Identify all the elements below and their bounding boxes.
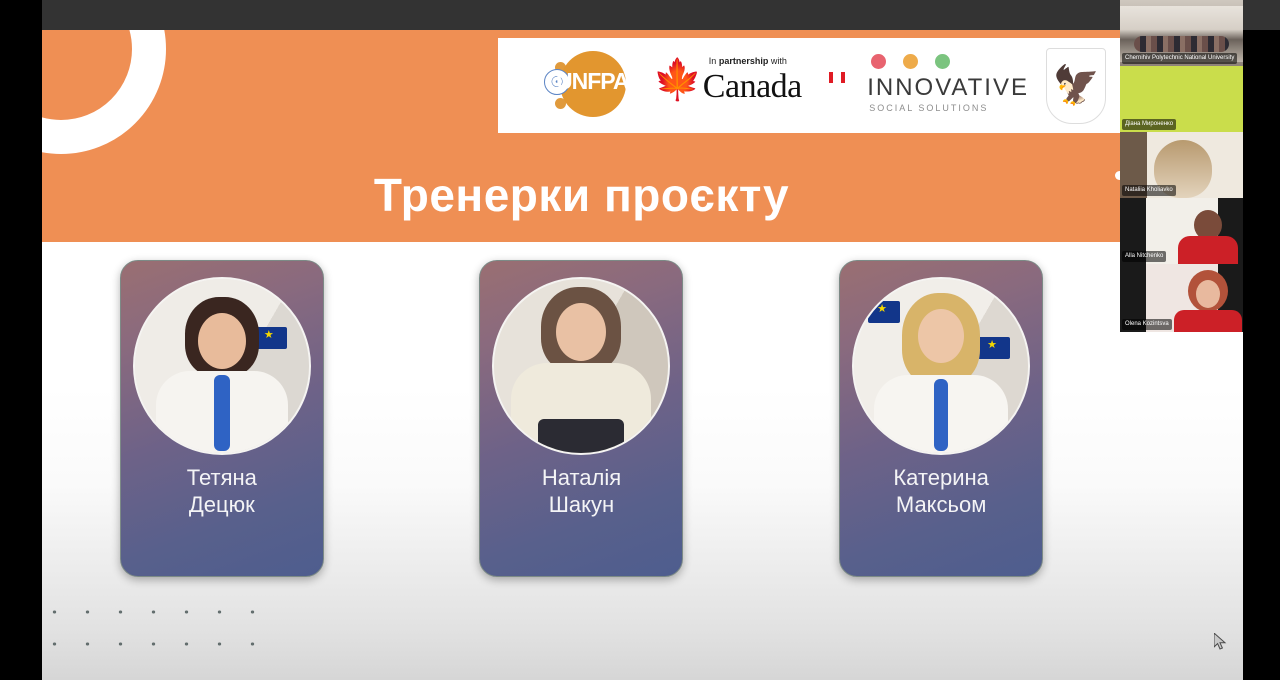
canada-partnership-line: In partnership with (709, 56, 787, 66)
screen-share-stage: ☉ UNFPA 🍁 In partnership with Canada INN… (0, 0, 1280, 680)
innovative-subtitle: SOCIAL SOLUTIONS (869, 103, 988, 113)
decorative-ring-shape (42, 30, 166, 154)
presentation-slide: ☉ UNFPA 🍁 In partnership with Canada INN… (42, 30, 1243, 680)
participant-tile[interactable]: Alla Nitchenko (1120, 198, 1243, 264)
participant-torso (1174, 310, 1242, 332)
participant-tile[interactable]: Діана Мироненко (1120, 66, 1243, 132)
trainer-last-name: Максьом (896, 492, 987, 517)
participant-video-strip[interactable]: Chernihiv Polytechnic National Universit… (1120, 0, 1243, 332)
trainer-last-name: Шакун (549, 492, 614, 517)
participant-name: Olena Kozintsva (1122, 319, 1172, 330)
presentation-top-chrome (42, 0, 1280, 30)
canada-wordmark: Canada (703, 68, 802, 106)
trainer-card[interactable]: Катерина Максьом (839, 260, 1043, 577)
partnership-prefix: In (709, 56, 717, 66)
logo-canada: 🍁 In partnership with Canada (647, 38, 853, 133)
trainer-last-name: Децюк (189, 492, 255, 517)
trainer-card[interactable]: Наталія Шакун (479, 260, 683, 577)
participant-silhouette (1196, 280, 1220, 308)
logo-innovative-social-solutions: INNOVATIVE SOCIAL SOLUTIONS (853, 38, 1032, 133)
page-title: Тренерки проєкту (42, 168, 1121, 222)
participant-torso (1178, 236, 1238, 264)
trainer-card[interactable]: Тетяна Децюк (120, 260, 324, 577)
avatar (852, 277, 1030, 455)
avatar (133, 277, 311, 455)
innovative-dots-icon (871, 54, 950, 69)
trainer-first-name: Катерина (893, 465, 989, 490)
partnership-suffix: with (771, 56, 787, 66)
participant-tile[interactable]: Olena Kozintsva (1120, 264, 1243, 332)
participant-name: Nataliia Kholiavko (1122, 185, 1176, 196)
trainer-first-name: Наталія (542, 465, 621, 490)
participant-tile[interactable]: Nataliia Kholiavko (1120, 132, 1243, 198)
participant-name: Chernihiv Polytechnic National Universit… (1122, 53, 1237, 64)
unfpa-wordmark: UNFPA (556, 68, 629, 95)
sponsor-logo-strip: ☉ UNFPA 🍁 In partnership with Canada INN… (498, 38, 1121, 133)
logo-university: 🦅 (1032, 38, 1121, 133)
trainer-name: Наталія Шакун (480, 464, 682, 518)
decorative-dot-pattern (42, 596, 278, 666)
maple-leaf-icon: 🍁 (653, 60, 703, 100)
participant-name: Діана Мироненко (1122, 119, 1176, 130)
participant-name: Alla Nitchenko (1122, 251, 1166, 262)
logo-unfpa: ☉ UNFPA (498, 38, 647, 133)
innovative-wordmark: INNOVATIVE (867, 74, 1029, 102)
trainer-first-name: Тетяна (187, 465, 257, 490)
eagle-crest-icon: 🦅 (1046, 48, 1106, 124)
trainer-card-list: Тетяна Децюк Наталія Шакун (42, 260, 1121, 577)
participant-tile[interactable]: Chernihiv Polytechnic National Universit… (1120, 0, 1243, 66)
mouse-pointer-icon (1214, 633, 1228, 651)
canada-flag-icon (829, 72, 845, 83)
trainer-name: Тетяна Децюк (121, 464, 323, 518)
avatar (492, 277, 670, 455)
trainer-name: Катерина Максьом (840, 464, 1042, 518)
partnership-bold: partnership (719, 56, 769, 66)
